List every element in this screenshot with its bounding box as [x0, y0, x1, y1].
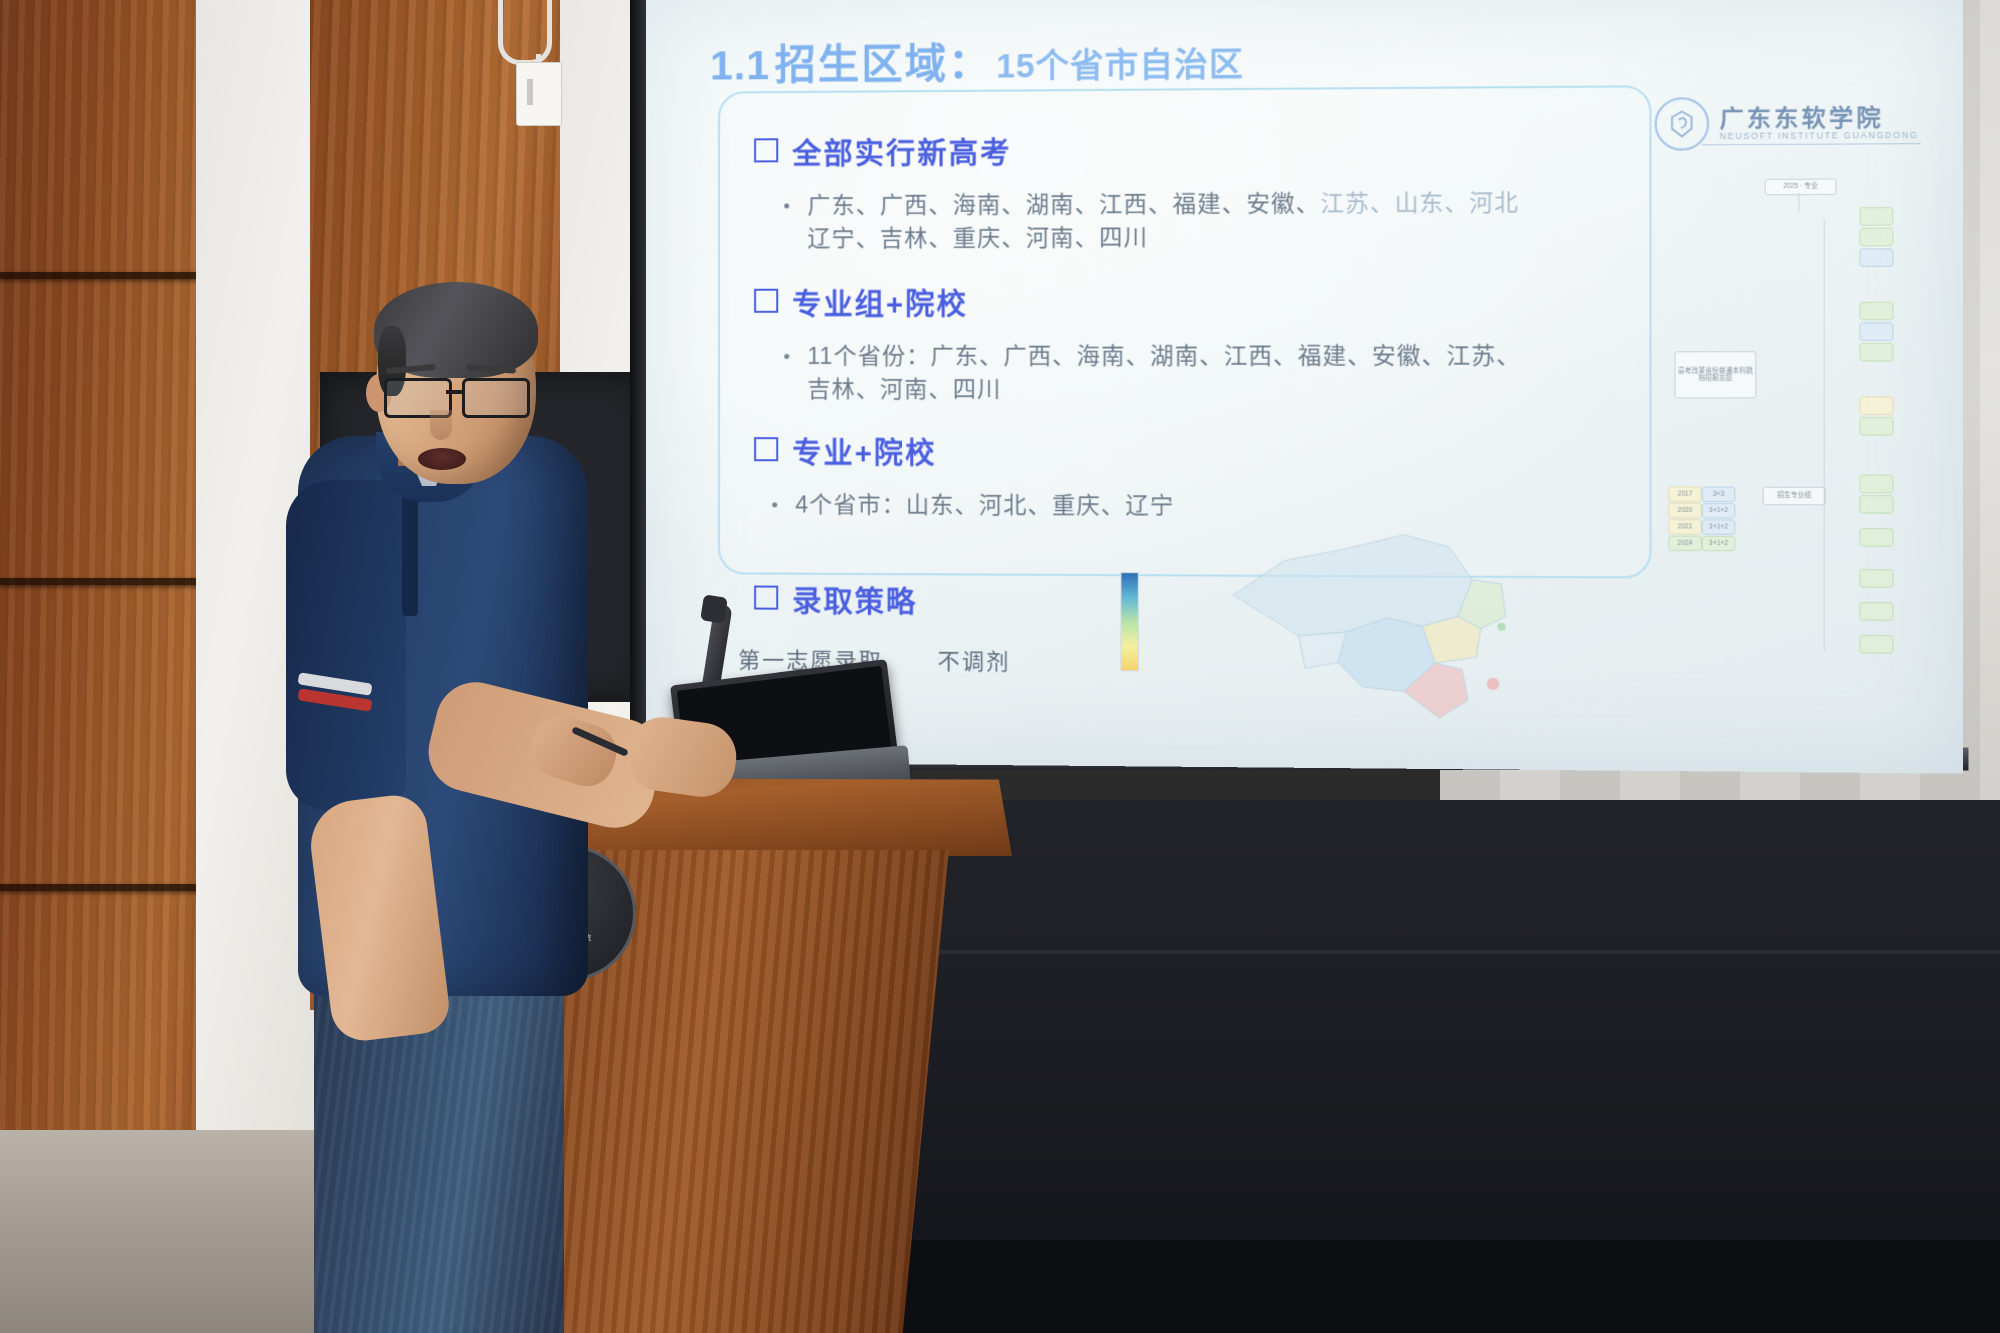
checkbox-square-icon	[754, 586, 778, 610]
flow-year: 2017	[1668, 486, 1702, 501]
flow-leaf	[1860, 302, 1894, 321]
footer-note-2: 不调剂	[938, 644, 1011, 677]
checkbox-square-icon	[754, 289, 778, 313]
flow-connector	[1798, 193, 1799, 211]
flow-tag: 3+1+2	[1702, 503, 1736, 518]
presenter-nose	[430, 410, 452, 440]
slide-title-main: 招生区域：	[775, 40, 992, 88]
flow-node: 招生专业组	[1763, 487, 1826, 506]
flow-year: 2024	[1668, 536, 1702, 551]
flow-leaf	[1860, 475, 1894, 494]
slide-title-number: 1.1	[710, 42, 770, 89]
flow-tag: 3+1+2	[1702, 536, 1736, 551]
presenter	[280, 300, 750, 1333]
bullet-line-faded: 江苏、山东、河北	[1320, 189, 1519, 216]
flow-leaf	[1860, 417, 1894, 436]
flow-leaf	[1860, 495, 1894, 514]
flow-node: 高考改革省份普通本科跳档招报志愿	[1674, 351, 1756, 398]
flow-leaf	[1860, 248, 1894, 267]
checkbox-square-icon	[754, 138, 778, 162]
flow-leaf	[1860, 396, 1894, 415]
flow-leaf	[1860, 569, 1894, 588]
flow-leaf	[1860, 207, 1894, 226]
flow-tag: 3+3	[1702, 487, 1736, 502]
glasses-lens	[462, 378, 530, 418]
bullet-dot-icon	[784, 354, 789, 359]
flow-leaf	[1860, 322, 1894, 341]
flow-node: 2025 · 专业	[1765, 179, 1837, 196]
flow-tag: 3+1+2	[1702, 519, 1736, 534]
section-bullet-text: 4个省市：山东、河北、重庆、辽宁	[795, 488, 1174, 522]
bullet-line: 吉林、河南、四川	[807, 376, 1001, 402]
section-heading-text: 录取策略	[792, 579, 917, 622]
flow-leaf	[1860, 602, 1894, 621]
wall-switch-icon[interactable]	[516, 62, 562, 126]
slide-title: 1.1 招生区域： 15个省市自治区	[710, 27, 1244, 91]
presenter-mouth	[418, 448, 466, 470]
section-heading-row: 全部实行新高考	[754, 124, 1963, 174]
section-heading-text: 专业+院校	[792, 430, 936, 472]
map-legend-colorbar	[1120, 572, 1138, 671]
slide-title-subtitle: 15个省市自治区	[996, 45, 1244, 84]
wall-cable	[498, 0, 552, 65]
flow-year: 2021	[1668, 519, 1702, 534]
shirt-placket	[402, 496, 418, 616]
flow-leaf	[1860, 528, 1894, 547]
eyeglasses-icon	[384, 378, 534, 412]
bullet-dot-icon	[772, 502, 777, 507]
screenshot-root: Val 创…录取 1.1 招生区域： 15个省市自治区 广东东软学院 NEUSO…	[0, 0, 2000, 1333]
flow-year: 2020	[1668, 503, 1702, 518]
section-bullet-text: 11个省份：广东、广西、海南、湖南、江西、福建、安徽、江苏、 吉林、河南、四川	[807, 339, 1521, 406]
bullet-line: 辽宁、吉林、重庆、河南、四川	[807, 224, 1148, 251]
flow-leaf	[1860, 635, 1894, 654]
section-bullet-text: 广东、广西、海南、湖南、江西、福建、安徽、江苏、山东、河北 辽宁、吉林、重庆、河…	[807, 186, 1519, 255]
bullet-dot-icon	[784, 203, 789, 208]
glasses-bridge	[446, 390, 464, 394]
projection-screen: 1.1 招生区域： 15个省市自治区 广东东软学院 NEUSOFT INSTIT…	[646, 0, 1963, 774]
china-map-graphic	[1192, 473, 1564, 739]
bullet-line: 广东、广西、海南、湖南、江西、福建、安徽、	[807, 190, 1320, 218]
policy-flowchart-graphic: 2025 · 专业 高考改革省份普通本科跳档招报志愿 2017 3+3 2020…	[1664, 178, 1938, 714]
checkbox-square-icon	[754, 437, 778, 461]
presenter-sleeve	[286, 480, 406, 810]
flow-spine	[1824, 220, 1825, 652]
flow-leaf	[1860, 228, 1894, 247]
flow-leaf	[1860, 343, 1894, 362]
presenter-hair	[374, 282, 538, 378]
section-heading-text: 全部实行新高考	[792, 130, 1011, 173]
bullet-line: 11个省份：广东、广西、海南、湖南、江西、福建、安徽、江苏、	[807, 342, 1521, 369]
section-heading-text: 专业组+院校	[792, 281, 968, 324]
